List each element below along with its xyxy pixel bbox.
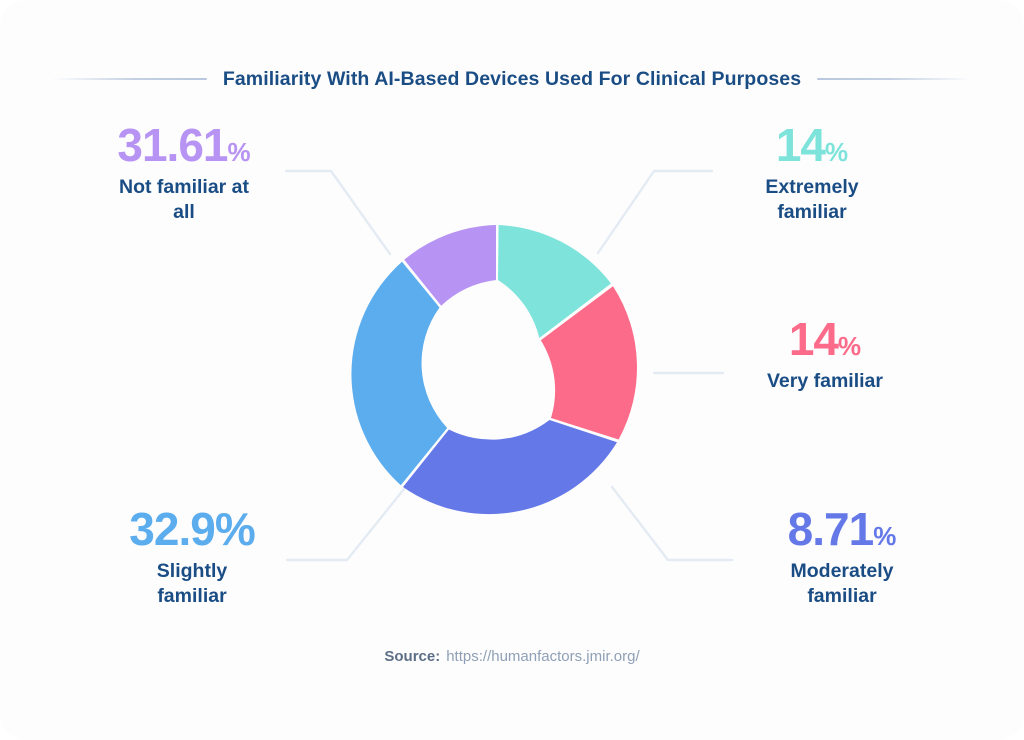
label-very-familiar: 14% Very familiar xyxy=(735,316,915,394)
label-text-moderately-familiar: Moderately familiar xyxy=(742,559,942,608)
value-very-familiar: 14% xyxy=(735,316,915,362)
label-extremely-familiar: 14% Extremely familiar xyxy=(722,122,902,224)
label-slightly-familiar: 32.9% Slightly familiar xyxy=(94,506,290,608)
value-extremely-familiar: 14% xyxy=(722,122,902,168)
title-divider-left xyxy=(49,78,207,80)
title-row: Familiarity With AI-Based Devices Used F… xyxy=(0,62,1024,96)
label-text-slightly-familiar: Slightly familiar xyxy=(94,559,290,608)
label-not-familiar-at-all: 31.61% Not familiar at all xyxy=(84,122,284,224)
label-text-not-familiar-at-all: Not familiar at all xyxy=(84,175,284,224)
infographic-card: Familiarity With AI-Based Devices Used F… xyxy=(0,0,1024,740)
page-title: Familiarity With AI-Based Devices Used F… xyxy=(223,68,801,91)
value-slightly-familiar: 32.9% xyxy=(94,506,290,552)
source-line: Source:https://humanfactors.jmir.org/ xyxy=(0,648,1024,665)
value-not-familiar-at-all: 31.61% xyxy=(84,122,284,168)
label-text-extremely-familiar: Extremely familiar xyxy=(722,175,902,224)
source-url[interactable]: https://humanfactors.jmir.org/ xyxy=(446,648,639,665)
value-moderately-familiar: 8.71% xyxy=(742,506,942,552)
source-label: Source: xyxy=(384,648,440,665)
label-moderately-familiar: 8.71% Moderately familiar xyxy=(742,506,942,608)
label-text-very-familiar: Very familiar xyxy=(735,369,915,394)
title-divider-right xyxy=(817,78,975,80)
donut-slices xyxy=(351,225,637,514)
donut-chart xyxy=(346,225,646,525)
